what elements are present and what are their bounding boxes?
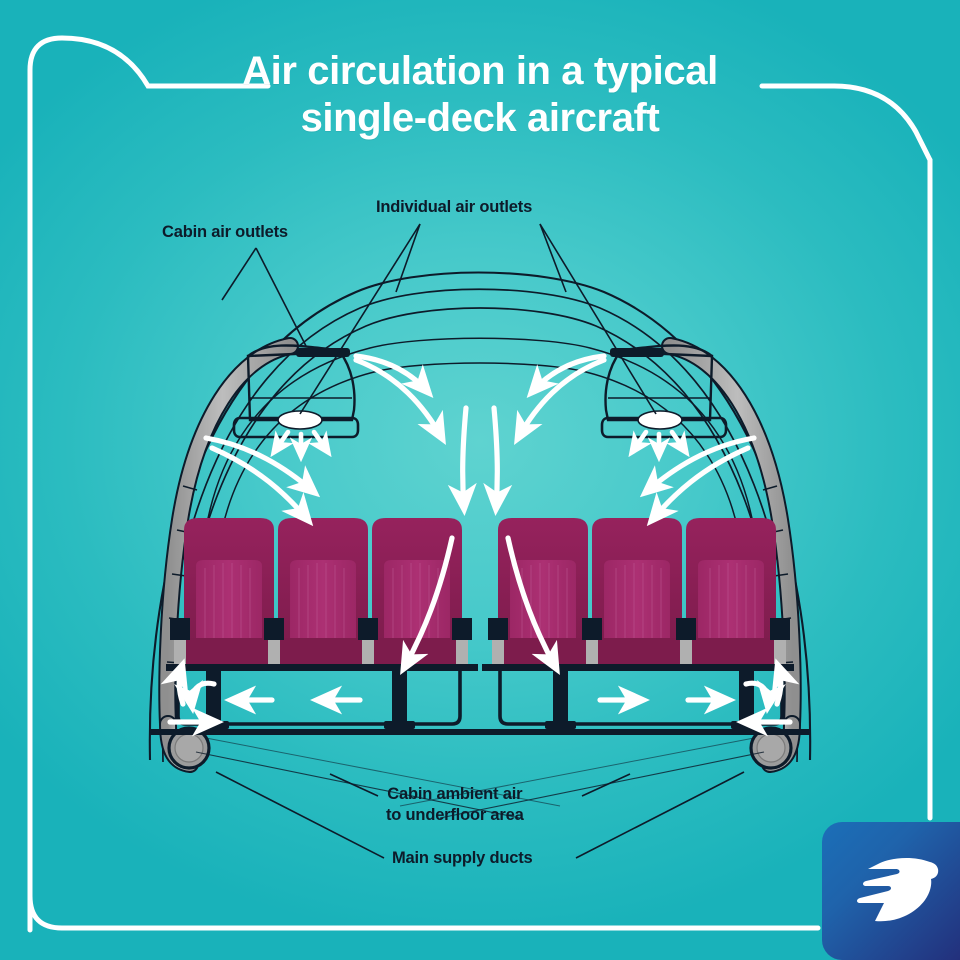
label-main-supply-ducts: Main supply ducts [392, 848, 533, 869]
bird-logo-icon [844, 852, 940, 930]
brand-logo[interactable] [822, 822, 960, 960]
label-cabin-air-outlets: Cabin air outlets [162, 222, 288, 243]
label-individual-air-outlets: Individual air outlets [376, 197, 532, 218]
infographic-canvas: Air circulation in a typical single-deck… [0, 0, 960, 960]
label-cabin-ambient-air: Cabin ambient air to underfloor area [386, 784, 524, 826]
